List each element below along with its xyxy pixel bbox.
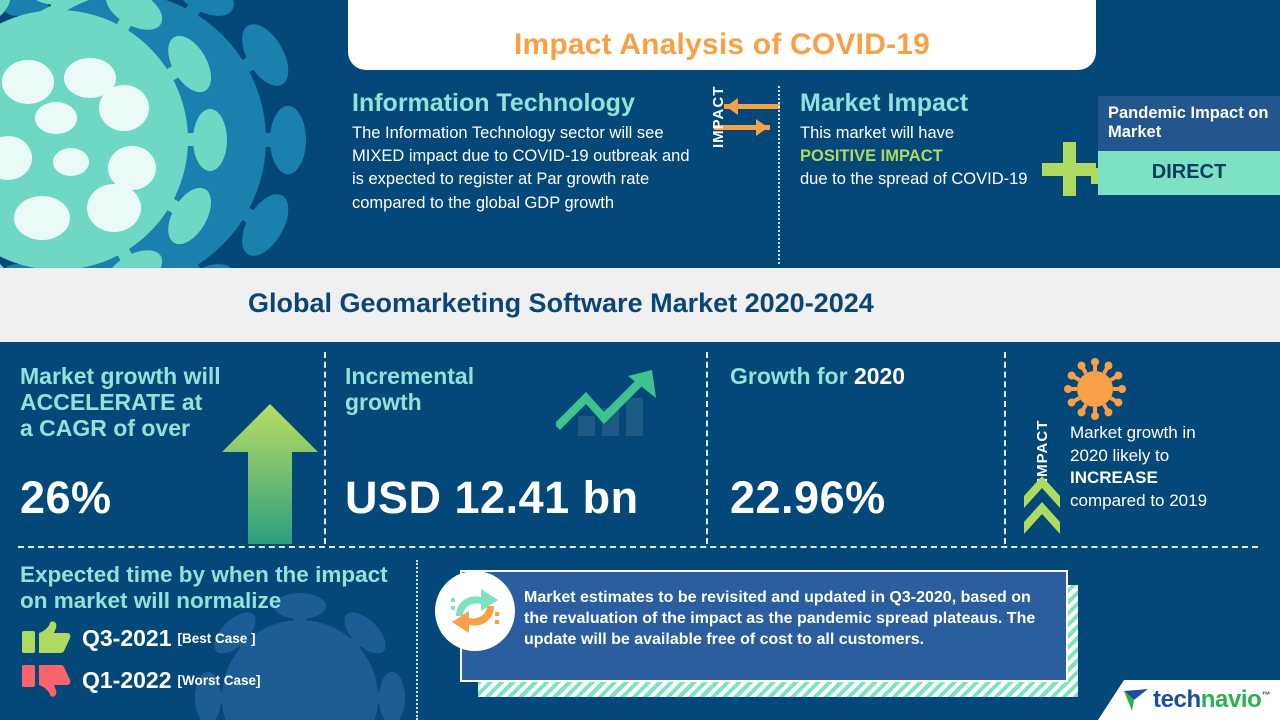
normalize-heading: Expected time by when the impact on mark… (20, 562, 420, 613)
market-impact-body-after: due to the spread of COVID-19 (800, 170, 1027, 188)
market-impact-heading: Market Impact (800, 90, 1070, 118)
market-impact-body-before: This market will have (800, 124, 954, 142)
impact-2020-line1: Market growth in (1070, 423, 1196, 442)
callout-box: Market estimates to be revisited and upd… (460, 570, 1068, 682)
case-worst-quarter: Q1-2022 (82, 667, 172, 694)
stat-cagr-label-line3: a CAGR of over (20, 415, 190, 441)
market-impact-highlight: POSITIVE IMPACT (800, 147, 943, 165)
paper-plane-icon (1122, 687, 1150, 713)
report-title: Global Geomarketing Software Market 2020… (248, 288, 874, 319)
case-worst-tag: [Worst Case] (178, 673, 261, 688)
impact-2020-emphasis: INCREASE (1070, 468, 1158, 487)
stat-incremental-value: USD 12.41 bn (345, 472, 639, 524)
pandemic-impact-value: DIRECT (1098, 151, 1280, 195)
case-worst: Q1-2022 [Worst Case] (20, 663, 420, 697)
sector-market-impact: Market Impact This market will have POSI… (800, 90, 1070, 192)
logo-text: technavio™ (1153, 686, 1270, 714)
pandemic-impact-heading: Pandemic Impact on Market (1098, 96, 1280, 151)
stat-growth-2020: Growth for 2020 22.96% (730, 364, 990, 390)
report-title-band: Global Geomarketing Software Market 2020… (0, 268, 1280, 342)
divider-stat-3 (1004, 352, 1006, 544)
infographic-root: Impact Analysis of COVID-19 Information … (0, 0, 1280, 720)
it-heading: Information Technology (352, 90, 697, 118)
impact-2020-text: Market growth in 2020 likely to INCREASE… (1070, 422, 1280, 512)
case-best: Q3-2021 [Best Case ] (20, 621, 420, 655)
divider-stat-1 (324, 352, 326, 544)
title-card: Impact Analysis of COVID-19 (348, 0, 1096, 70)
stat-growth-2020-value: 22.96% (730, 472, 886, 524)
impact-2020-line2: 2020 likely to (1070, 446, 1169, 465)
it-body: The Information Technology sector will s… (352, 122, 697, 216)
stat-incremental-label-line1: Incremental (345, 363, 474, 389)
case-best-quarter: Q3-2021 (82, 625, 172, 652)
double-chevron-up-icon (1024, 474, 1060, 536)
stat-growth-2020-label-year: 2020 (854, 363, 905, 389)
sector-information-technology: Information Technology The Information T… (352, 90, 697, 215)
divider-vertical-bottom (416, 560, 418, 720)
thumbs-up-icon (20, 621, 72, 655)
up-arrow-icon (222, 404, 318, 544)
brand-logo[interactable]: technavio™ (1122, 686, 1270, 714)
logo-text-part1: tech (1153, 686, 1201, 713)
plus-icon (1040, 140, 1098, 198)
stat-cagr-value: 26% (20, 472, 112, 524)
growth-chart-icon (556, 368, 671, 440)
case-best-tag: [Best Case ] (178, 631, 256, 646)
divider-stat-2 (706, 352, 708, 544)
divider-vertical-top (778, 86, 780, 264)
page-title: Impact Analysis of COVID-19 (514, 28, 930, 62)
impact-axis-label: IMPACT (710, 86, 727, 148)
refresh-cycle-icon (432, 568, 518, 654)
impact-2020-line3: compared to 2019 (1070, 491, 1207, 510)
impact-2020-block: IMPACT Market growth in 2020 likely to I… (1012, 352, 1280, 544)
callout-text: Market estimates to be revisited and upd… (524, 588, 1044, 650)
market-impact-body: This market will have POSITIVE IMPACT du… (800, 122, 1070, 192)
thumbs-down-icon (20, 663, 72, 697)
impact-axis: IMPACT (700, 96, 790, 271)
stat-incremental-label-line2: growth (345, 389, 422, 415)
logo-text-part2: navio (1201, 686, 1262, 713)
virus-icon-orange (1064, 358, 1126, 420)
stat-cagr-label-line1: Market growth will (20, 363, 221, 389)
impact-2020-axis-label: IMPACT (1034, 420, 1051, 482)
stat-growth-2020-label-teal: Growth for (730, 363, 848, 389)
stat-cagr-label-line2: ACCELERATE at (20, 389, 202, 415)
logo-trademark: ™ (1261, 690, 1270, 700)
impact-analysis-row: Information Technology The Information T… (0, 80, 1280, 270)
divider-horizontal (18, 546, 1258, 548)
normalize-block: Expected time by when the impact on mark… (20, 562, 420, 697)
pandemic-impact-box: Pandemic Impact on Market DIRECT (1098, 96, 1280, 195)
stat-growth-2020-label: Growth for 2020 (730, 364, 990, 390)
